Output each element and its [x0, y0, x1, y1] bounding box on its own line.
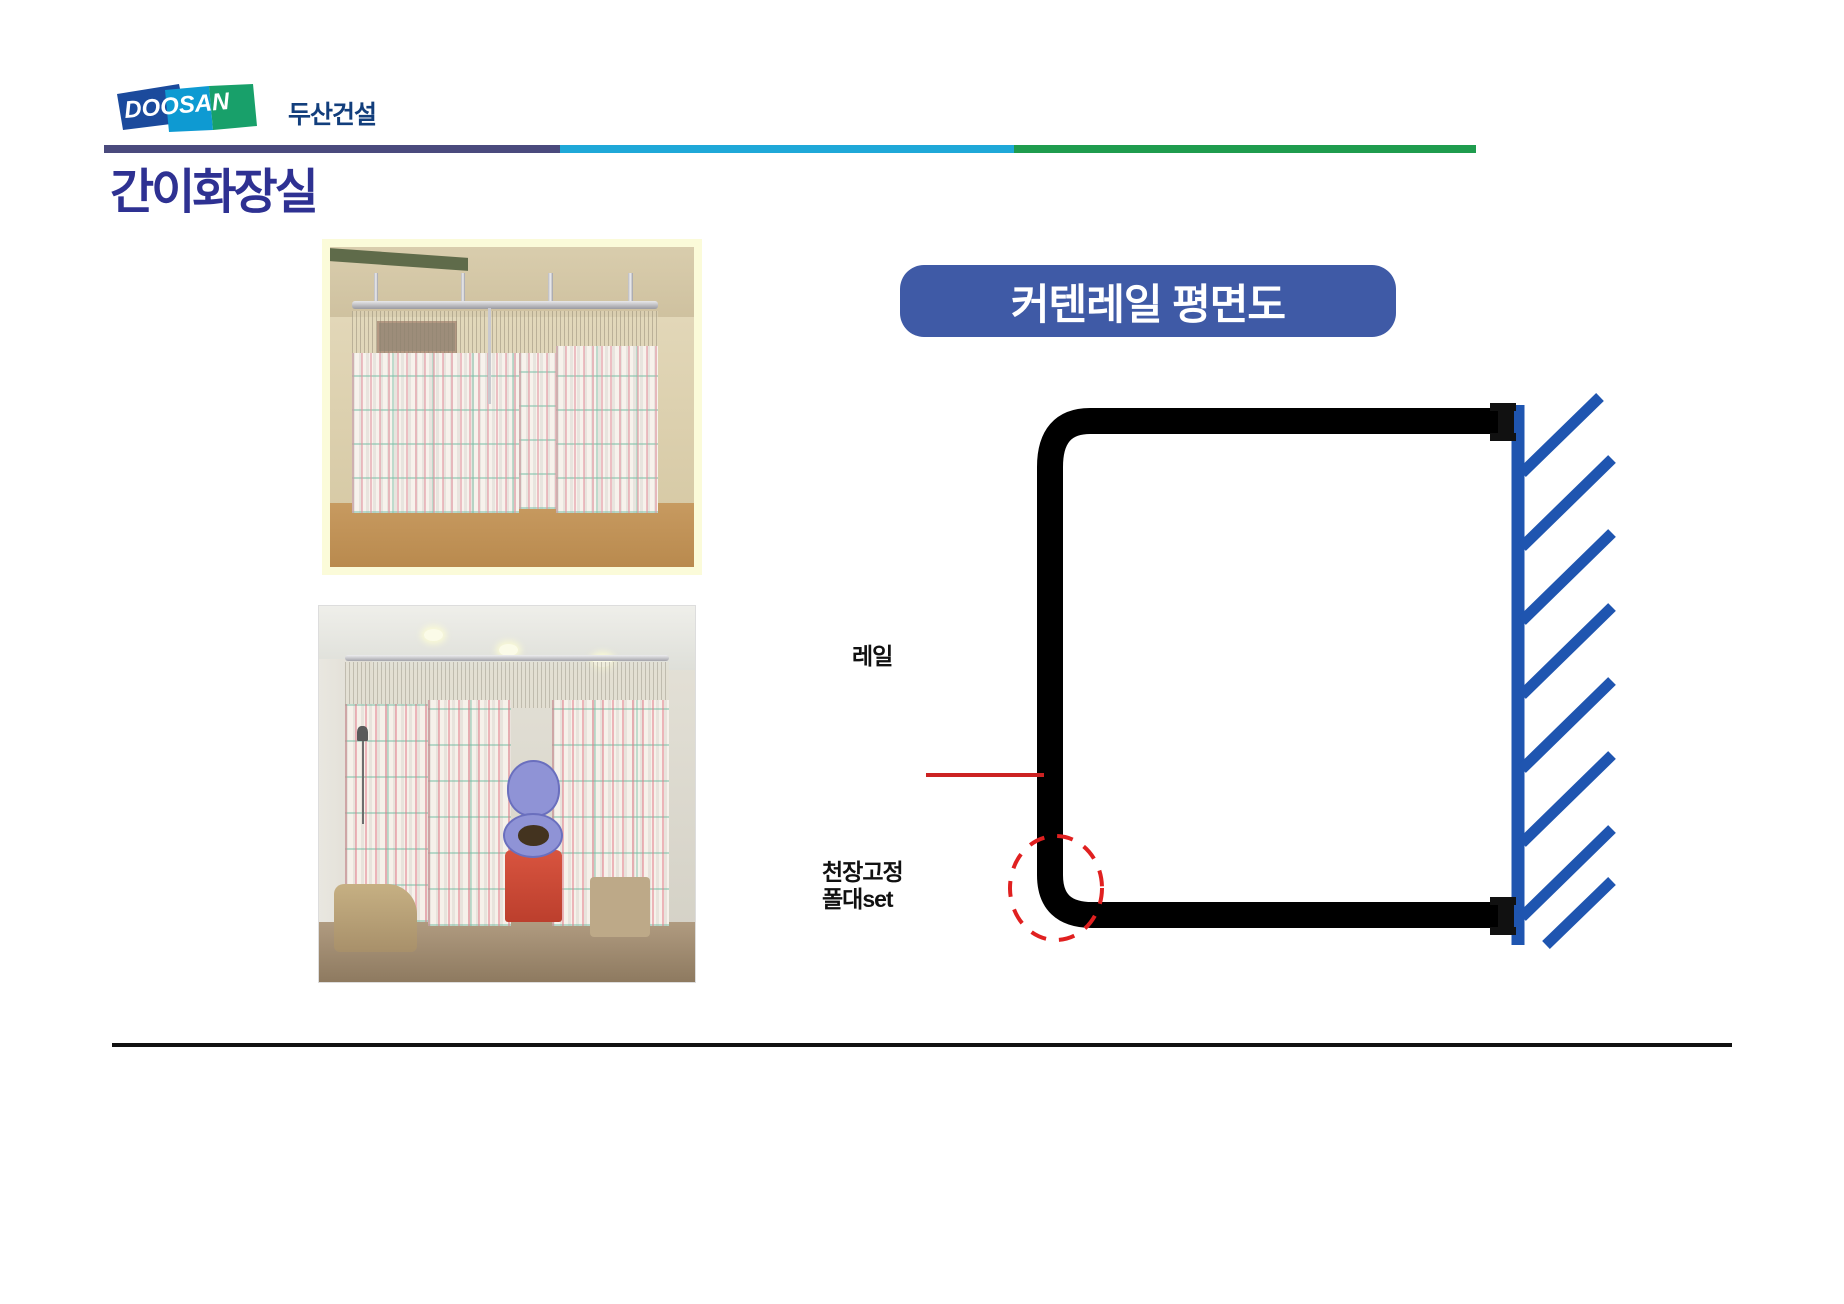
photo1-curtain-panel	[556, 346, 658, 512]
rail-path	[1050, 421, 1512, 915]
photo2-chair	[590, 877, 650, 937]
photo2-shower-head	[357, 726, 368, 741]
diagram-title-label: 커텐레일 평면도	[1011, 271, 1285, 332]
label-pole-line1: 천장고정	[822, 859, 903, 886]
photo1-hanger-rod	[628, 273, 632, 302]
photo1-iv-pole	[488, 308, 491, 404]
photo2-toilet-base	[505, 850, 561, 921]
plan-drawing	[800, 375, 1760, 955]
photo1-curtain-panel	[519, 353, 555, 510]
photo2-toilet-seat	[503, 813, 563, 858]
photo2-shower-hose	[362, 741, 365, 824]
doosan-logo-mark: DOOSAN	[113, 82, 273, 134]
doosan-logo: DOOSAN 두산건설	[113, 82, 373, 138]
photo-portable-toilet	[318, 605, 696, 983]
footer-rule	[112, 1043, 1732, 1047]
photo-curtain-cubicles	[322, 239, 702, 575]
photo2-ceiling-light	[499, 644, 518, 656]
slide-root: DOOSAN 두산건설 간이화장실	[0, 0, 1844, 1304]
rule-segment-cyan	[560, 145, 1014, 153]
rule-segment-green	[1014, 145, 1476, 153]
wall-hatching	[1522, 397, 1612, 945]
label-ceiling-fixed-pole-set: 천장고정 폴대set	[822, 859, 903, 913]
company-name: 두산건설	[288, 95, 376, 131]
photo1-hanger-rod	[548, 273, 552, 302]
page-title: 간이화장실	[110, 152, 316, 222]
curtain-rail-plan-diagram: 커텐레일 평면도	[800, 255, 1760, 955]
photo2-curtain-panel	[428, 700, 511, 926]
photo2-ceiling-light	[424, 629, 443, 641]
label-pole-line2: 폴대set	[822, 886, 903, 913]
photo2-curtain-rail	[345, 655, 668, 661]
photo2-toilet-lid	[507, 760, 560, 816]
photo1-hanger-rod	[374, 273, 378, 302]
photo1-curtain-rail	[352, 301, 658, 309]
diagram-title-badge: 커텐레일 평면도	[900, 265, 1396, 337]
photo1-hanger-rod	[461, 273, 465, 302]
photo1-curtain-panel	[352, 353, 519, 513]
photo1-floor	[330, 503, 694, 567]
photo2-blanket	[334, 884, 417, 952]
label-rail: 레일	[852, 643, 892, 670]
